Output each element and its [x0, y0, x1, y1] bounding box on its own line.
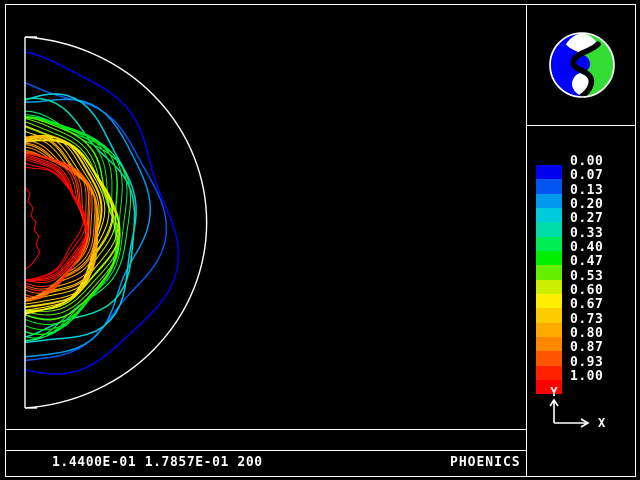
- colorbar-label-9: 0.60: [570, 284, 632, 298]
- colorbar-labels: 0.000.070.130.200.270.330.400.470.530.60…: [570, 155, 632, 384]
- frame-plot-bottom: [5, 429, 526, 430]
- phoenics-viewer-window: 0.000.070.130.200.270.330.400.470.530.60…: [0, 0, 640, 480]
- colorbar-label-14: 0.93: [570, 356, 632, 370]
- axis-label-x: X: [598, 416, 606, 429]
- contour-red-pocket: [25, 187, 40, 269]
- colorbar-label-11: 0.73: [570, 313, 632, 327]
- colorbar-segment-10[interactable]: [536, 308, 562, 322]
- colorbar-segment-7[interactable]: [536, 265, 562, 279]
- phoenics-logo-icon: [542, 25, 622, 105]
- colorbar-segment-12[interactable]: [536, 337, 562, 351]
- contour-plot-canvas: [6, 5, 520, 429]
- frame-logo-bottom: [526, 125, 636, 126]
- colorbar-swatches[interactable]: [536, 165, 562, 380]
- colorbar-legend-panel: 0.000.070.130.200.270.330.400.470.530.60…: [528, 129, 635, 429]
- colorbar-segment-9[interactable]: [536, 294, 562, 308]
- axis-label-y: Y: [550, 385, 558, 399]
- colorbar-label-10: 0.67: [570, 298, 632, 312]
- colorbar-segment-0[interactable]: [536, 165, 562, 179]
- colorbar-label-7: 0.47: [570, 255, 632, 269]
- colorbar-segment-3[interactable]: [536, 208, 562, 222]
- logo-panel: [528, 5, 635, 124]
- contour-level-group: [25, 52, 179, 374]
- colorbar-segment-14[interactable]: [536, 366, 562, 380]
- colorbar-label-6: 0.40: [570, 241, 632, 255]
- frame-outer-bottom: [5, 476, 636, 477]
- colorbar-label-4: 0.27: [570, 212, 632, 226]
- colorbar-segment-11[interactable]: [536, 323, 562, 337]
- colorbar-segment-4[interactable]: [536, 222, 562, 236]
- colorbar-segment-1[interactable]: [536, 179, 562, 193]
- colorbar-label-1: 0.07: [570, 169, 632, 183]
- colorbar-segment-8[interactable]: [536, 280, 562, 294]
- colorbar-segment-6[interactable]: [536, 251, 562, 265]
- colorbar-segment-5[interactable]: [536, 237, 562, 251]
- colorbar-segment-13[interactable]: [536, 351, 562, 365]
- colorbar-segment-2[interactable]: [536, 194, 562, 208]
- colorbar-label-12: 0.80: [570, 327, 632, 341]
- colorbar-label-2: 0.13: [570, 184, 632, 198]
- axis-orientation-indicator: Y X: [528, 385, 635, 429]
- contour-plot-panel[interactable]: [6, 5, 520, 429]
- colorbar-label-8: 0.53: [570, 270, 632, 284]
- colorbar-label-5: 0.33: [570, 227, 632, 241]
- brand-label: PHOENICS: [450, 455, 521, 470]
- status-values-text: 1.4400E-01 1.7857E-01 200: [52, 455, 263, 470]
- colorbar-label-15: 1.00: [570, 370, 632, 384]
- colorbar-label-13: 0.87: [570, 341, 632, 355]
- brand-panel: PHOENICS: [420, 451, 520, 476]
- colorbar-label-3: 0.20: [570, 198, 632, 212]
- axis-triad-icon: Y X: [528, 385, 635, 429]
- frame-vertical-divider: [526, 4, 527, 477]
- frame-outer-right: [635, 4, 636, 477]
- colorbar-label-0: 0.00: [570, 155, 632, 169]
